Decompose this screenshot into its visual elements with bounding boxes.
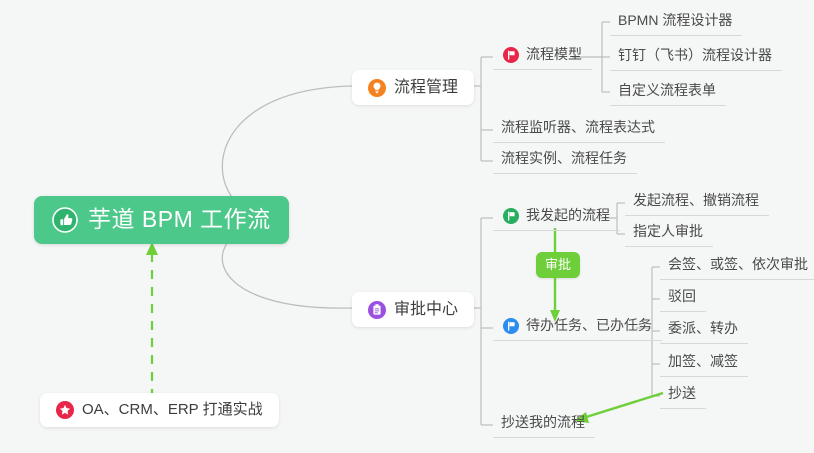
leaf-countersign[interactable]: 会签、或签、依次审批	[660, 253, 814, 280]
root-node[interactable]: 芋道 BPM 工作流	[34, 196, 289, 244]
leaf-dingtalk-designer[interactable]: 钉钉（飞书）流程设计器	[610, 44, 782, 71]
node-todo-done-tasks[interactable]: 待办任务、已办任务	[493, 314, 662, 341]
lightbulb-icon	[368, 79, 386, 97]
leaf-label: 发起流程、撤销流程	[633, 192, 759, 210]
node-label: 待办任务、已办任务	[526, 317, 652, 335]
node-label: 流程模型	[526, 46, 582, 64]
leaf-label: 委派、转办	[668, 320, 738, 338]
leaf-label: 加签、减签	[668, 353, 738, 371]
leaf-label: 抄送	[668, 385, 696, 403]
leaf-label: 指定人审批	[633, 223, 703, 241]
flag-icon	[503, 208, 519, 224]
leaf-label: 自定义流程表单	[618, 82, 716, 100]
branch-label: 流程管理	[394, 78, 458, 97]
node-process-listener[interactable]: 流程监听器、流程表达式	[493, 116, 665, 143]
leaf-start-cancel-process[interactable]: 发起流程、撤销流程	[625, 189, 769, 216]
leaf-custom-form[interactable]: 自定义流程表单	[610, 79, 726, 106]
leaf-cc[interactable]: 抄送	[660, 382, 706, 409]
mindmap-canvas[interactable]: 芋道 BPM 工作流 流程管理 流程模型 BPMN 流程设计器 钉钉（飞书）流程	[0, 0, 814, 453]
footer-note-label: OA、CRM、ERP 打通实战	[82, 401, 263, 419]
clipboard-icon	[368, 301, 386, 319]
node-cc-to-me-processes[interactable]: 抄送我的流程	[493, 411, 595, 438]
leaf-add-remove-sign[interactable]: 加签、减签	[660, 350, 748, 377]
leaf-label: 驳回	[668, 288, 696, 306]
node-label: 流程实例、流程任务	[501, 150, 627, 168]
node-label: 抄送我的流程	[501, 414, 585, 432]
annotation-badge-approval: 审批	[536, 252, 580, 278]
footer-note-card[interactable]: OA、CRM、ERP 打通实战	[40, 393, 279, 427]
branch-node-process-management[interactable]: 流程管理	[352, 70, 474, 105]
leaf-label: BPMN 流程设计器	[618, 12, 732, 30]
node-process-instance[interactable]: 流程实例、流程任务	[493, 147, 637, 174]
node-process-model[interactable]: 流程模型	[493, 43, 592, 70]
leaf-reject[interactable]: 驳回	[660, 285, 706, 312]
node-label: 我发起的流程	[526, 207, 610, 225]
leaf-assigned-approver[interactable]: 指定人审批	[625, 220, 713, 247]
leaf-label: 钉钉（飞书）流程设计器	[618, 47, 772, 65]
leaf-delegate-transfer[interactable]: 委派、转办	[660, 317, 748, 344]
node-label: 流程监听器、流程表达式	[501, 119, 655, 137]
root-node-label: 芋道 BPM 工作流	[88, 207, 271, 232]
thumbs-up-icon	[52, 207, 78, 233]
leaf-label: 会签、或签、依次审批	[668, 256, 808, 274]
branch-label: 审批中心	[394, 300, 458, 319]
flag-icon	[503, 318, 519, 334]
leaf-bpmn-designer[interactable]: BPMN 流程设计器	[610, 9, 742, 36]
node-my-initiated-processes[interactable]: 我发起的流程	[493, 204, 620, 231]
branch-node-approval-center[interactable]: 审批中心	[352, 292, 474, 327]
star-icon	[56, 401, 74, 419]
flag-icon	[503, 47, 519, 63]
